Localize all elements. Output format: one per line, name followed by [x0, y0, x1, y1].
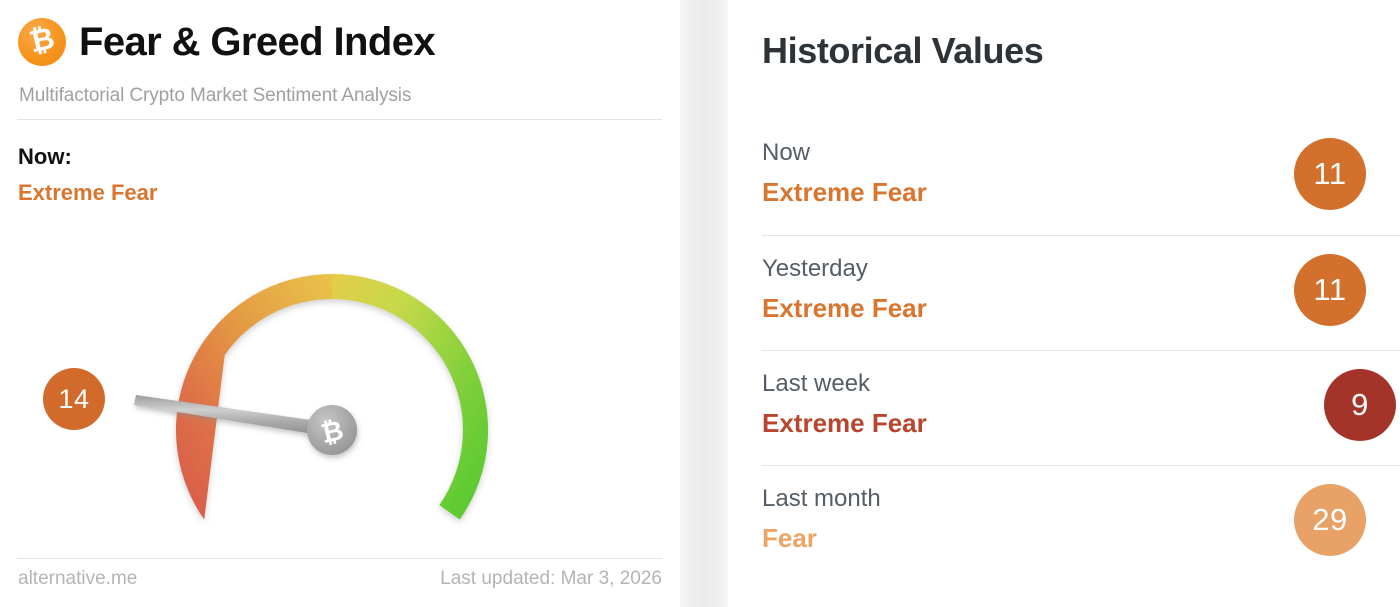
gauge-panel: ₿ Fear & Greed Index Multifactorial Cryp… — [0, 0, 680, 607]
historical-rating-label: Extreme Fear — [762, 177, 927, 208]
fear-greed-gauge: ₿ — [0, 205, 680, 535]
page-title: Fear & Greed Index — [79, 20, 435, 65]
bitcoin-icon: ₿ — [18, 18, 66, 66]
historical-rating-label: Extreme Fear — [762, 408, 927, 439]
historical-value-badge: 9 — [1324, 369, 1396, 441]
now-label: Now: — [18, 144, 72, 170]
historical-row: NowExtreme Fear11 — [762, 120, 1400, 235]
historical-value-badge: 11 — [1294, 138, 1366, 210]
historical-period-label: Last month — [762, 485, 881, 513]
gauge-arc — [176, 274, 488, 520]
historical-row: YesterdayExtreme Fear11 — [762, 235, 1400, 350]
historical-period-label: Yesterday — [762, 255, 868, 283]
header-divider — [17, 119, 662, 120]
source-link[interactable]: alternative.me — [18, 568, 137, 590]
now-rating: Extreme Fear — [18, 180, 157, 206]
historical-value-badge: 29 — [1294, 484, 1366, 556]
historical-row: Last weekExtreme Fear9 — [762, 350, 1400, 465]
historical-rating-label: Fear — [762, 523, 817, 554]
gauge-hub: ₿ — [307, 405, 357, 455]
historical-rating-label: Extreme Fear — [762, 293, 927, 324]
footer-divider — [17, 558, 662, 559]
historical-title: Historical Values — [762, 30, 1043, 72]
gauge-needle — [134, 395, 332, 437]
page-subtitle: Multifactorial Crypto Market Sentiment A… — [19, 85, 411, 107]
historical-period-label: Now — [762, 139, 810, 167]
historical-list: NowExtreme Fear11YesterdayExtreme Fear11… — [762, 120, 1400, 580]
bitcoin-glyph: ₿ — [27, 24, 58, 59]
last-updated-text: Last updated: Mar 3, 2026 — [440, 568, 662, 590]
gauge-value-badge: 14 — [43, 368, 105, 430]
historical-values-panel: Historical Values NowExtreme Fear11Yeste… — [728, 0, 1400, 607]
panel-separator — [680, 0, 728, 607]
historical-period-label: Last week — [762, 370, 870, 398]
historical-row: Last monthFear29 — [762, 465, 1400, 580]
widget-header: ₿ Fear & Greed Index — [18, 18, 435, 66]
fear-greed-widget: ₿ Fear & Greed Index Multifactorial Cryp… — [0, 0, 1400, 607]
gauge-svg: ₿ — [0, 205, 680, 535]
historical-value-badge: 11 — [1294, 254, 1366, 326]
